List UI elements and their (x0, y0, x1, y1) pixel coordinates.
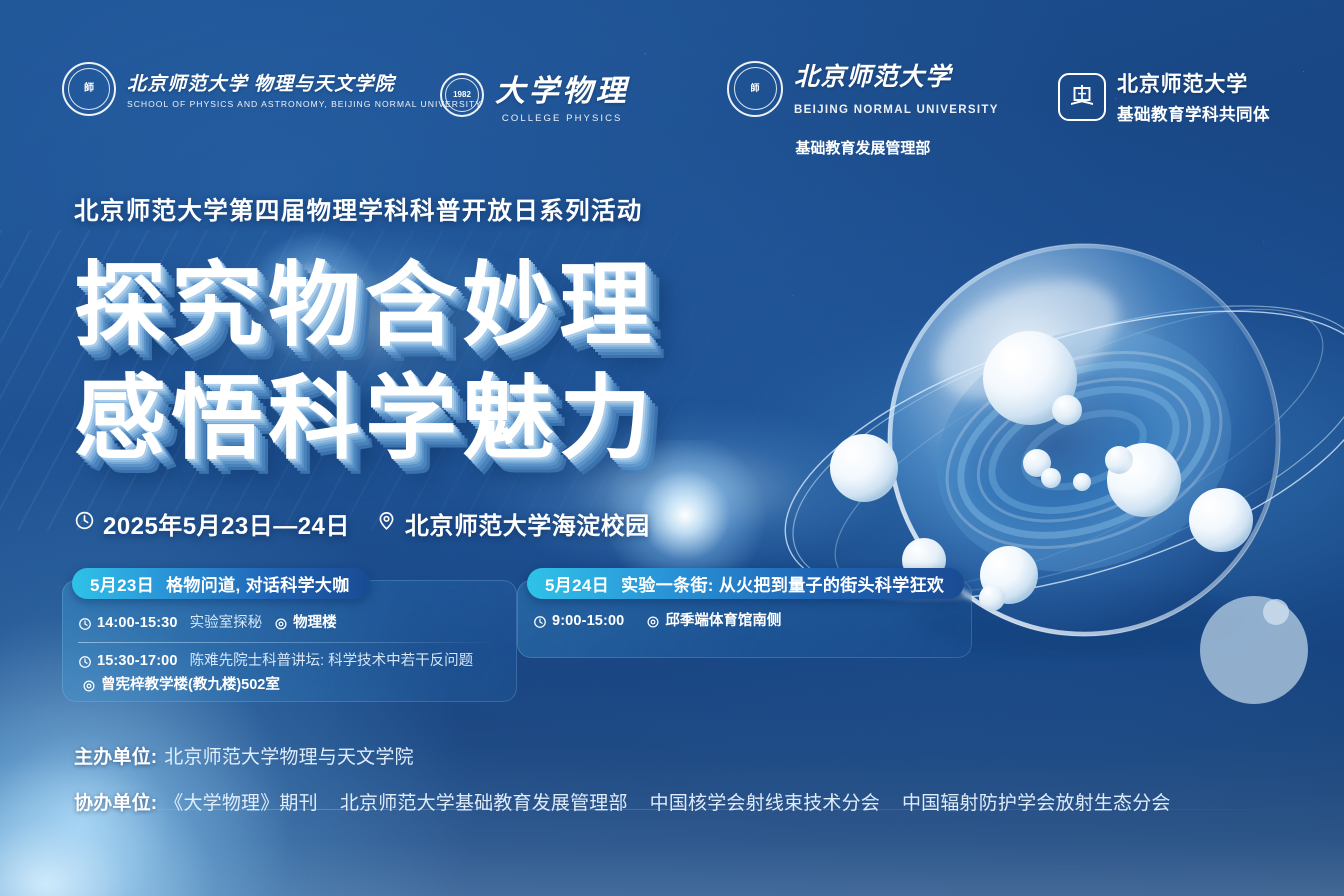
schedule-divider (78, 642, 501, 643)
host-value: 北京师范大学物理与天文学院 (164, 743, 413, 772)
coorganizer-item: 中国核学会射线束技术分会 (650, 793, 880, 814)
main-headline: 探究物含妙理 感悟科学魅力 (74, 252, 656, 473)
journal-seal-icon: 1982 (440, 73, 484, 117)
logo-bnu-basic-education: 師 北京师范大学 BEIJING NORMAL UNIVERSITY 基础教育发… (727, 58, 999, 158)
schedule-time-text: 14:00-15:30 (97, 612, 178, 635)
university-seal-icon: 師 (62, 62, 116, 116)
schedule-place-text: 曾宪梓教学楼(教九楼)502室 (101, 674, 280, 697)
schedule-row: 15:30-17:00 陈难先院士科普讲坛: 科学技术中若干反问题 (78, 650, 503, 673)
schedule-time: 14:00-15:30 (78, 612, 178, 635)
logo-name-en: COLLEGE PHYSICS (495, 113, 629, 124)
schedule-day-label: 5月23日 (90, 571, 154, 596)
schedule-row: 9:00-15:00 邱季端体育馆南侧 (533, 610, 958, 633)
schedule-panel-day2: 5月24日 实验一条街: 从火把到量子的街头科学狂欢 9:00-15:00 (517, 580, 972, 658)
schedule-pill-day1: 5月23日 格物问道, 对话科学大咖 (72, 568, 370, 599)
schedule-day-label: 5月24日 (545, 571, 609, 596)
logo-name-en: BEIJING NORMAL UNIVERSITY (794, 101, 999, 119)
schedule-day-title: 实验一条街: 从火把到量子的街头科学狂欢 (621, 571, 944, 596)
logo-subtitle: 基础教育发展管理部 (795, 137, 930, 158)
schedule-time: 9:00-15:00 (533, 610, 624, 633)
book-icon (1058, 73, 1106, 121)
schedule-time-text: 15:30-17:00 (97, 650, 178, 673)
logo-college-physics: 1982 大学物理 COLLEGE PHYSICS (440, 66, 629, 124)
schedule-topic: 实验室探秘 (190, 612, 263, 635)
host-label: 主办单位: (74, 743, 157, 772)
event-date: 2025年5月23日—24日 (74, 506, 350, 541)
headline-line-2: 感悟科学魅力 (74, 365, 656, 474)
logo-name-cn: 北京师范大学 (794, 58, 999, 98)
location-pin-icon (376, 510, 397, 538)
schedule-time-text: 9:00-15:00 (552, 610, 624, 633)
logo-name-cn: 北京师范大学 (1117, 68, 1270, 98)
logo-bnu-physics-astronomy: 師 北京师范大学 物理与天文学院 SCHOOL OF PHYSICS AND A… (62, 62, 482, 116)
schedule-topic: 陈难先院士科普讲坛: 科学技术中若干反问题 (190, 650, 474, 673)
schedule-pill-day2: 5月24日 实验一条街: 从火把到量子的街头科学狂欢 (527, 568, 964, 599)
poster-canvas: 師 北京师范大学 物理与天文学院 SCHOOL OF PHYSICS AND A… (0, 0, 1344, 896)
footer-organizers: 主办单位: 北京师范大学物理与天文学院 协办单位: 《大学物理》期刊北京师范大学… (74, 743, 1171, 818)
logo-name-cn: 北京师范大学 物理与天文学院 (127, 69, 482, 96)
seal-glyph: 師 (84, 84, 94, 94)
schedule-place: 物理楼 (274, 612, 337, 635)
atom-sphere-artwork (784, 150, 1344, 750)
event-series-title: 北京师范大学第四届物理学科科普开放日系列活动 (74, 192, 643, 227)
event-meta-row: 2025年5月23日—24日 北京师范大学海淀校园 (74, 506, 650, 541)
seal-glyph: 1982 (453, 91, 471, 99)
schedule-row-place: 曾宪梓教学楼(教九楼)502室 (78, 674, 503, 697)
schedule-place: 邱季端体育馆南侧 (646, 610, 781, 633)
logo-name-cn: 大学物理 (495, 66, 629, 110)
seal-glyph: 師 (750, 84, 759, 93)
logo-bnu-education-consortium: 北京师范大学 基础教育学科共同体 (1058, 68, 1270, 125)
schedule-day-title: 格物问道, 对话科学大咖 (166, 571, 350, 596)
coorganizer-values: 《大学物理》期刊北京师范大学基础教育发展管理部中国核学会射线束技术分会中国辐射防… (164, 789, 1170, 818)
event-location: 北京师范大学海淀校园 (376, 506, 650, 541)
schedule-time: 15:30-17:00 (78, 650, 178, 673)
logo-name-en: SCHOOL OF PHYSICS AND ASTRONOMY, BEIJING… (127, 99, 482, 109)
headline-line-1: 探究物含妙理 (74, 252, 656, 361)
schedule-row: 14:00-15:30 实验室探秘 物理楼 (78, 612, 503, 635)
coorganizer-item: 北京师范大学基础教育发展管理部 (340, 793, 628, 814)
schedule-panel-day1: 5月23日 格物问道, 对话科学大咖 14:00-15:30 实验室探秘 (62, 580, 517, 702)
coorganizer-label: 协办单位: (74, 789, 157, 818)
clock-icon (74, 510, 95, 538)
schedule-place-text: 物理楼 (293, 612, 337, 635)
coorganizer-line: 协办单位: 《大学物理》期刊北京师范大学基础教育发展管理部中国核学会射线束技术分… (74, 789, 1171, 818)
event-date-text: 2025年5月23日—24日 (103, 506, 350, 541)
event-location-text: 北京师范大学海淀校园 (405, 506, 650, 541)
schedule-place-text: 邱季端体育馆南侧 (665, 610, 781, 633)
host-line: 主办单位: 北京师范大学物理与天文学院 (74, 743, 1171, 772)
coorganizer-item: 中国辐射防护学会放射生态分会 (902, 793, 1171, 814)
schedule-place: 曾宪梓教学楼(教九楼)502室 (82, 674, 280, 697)
coorganizer-item: 《大学物理》期刊 (164, 793, 318, 814)
logo-name-cn2: 基础教育学科共同体 (1117, 101, 1270, 125)
university-seal-icon: 師 (727, 61, 783, 117)
